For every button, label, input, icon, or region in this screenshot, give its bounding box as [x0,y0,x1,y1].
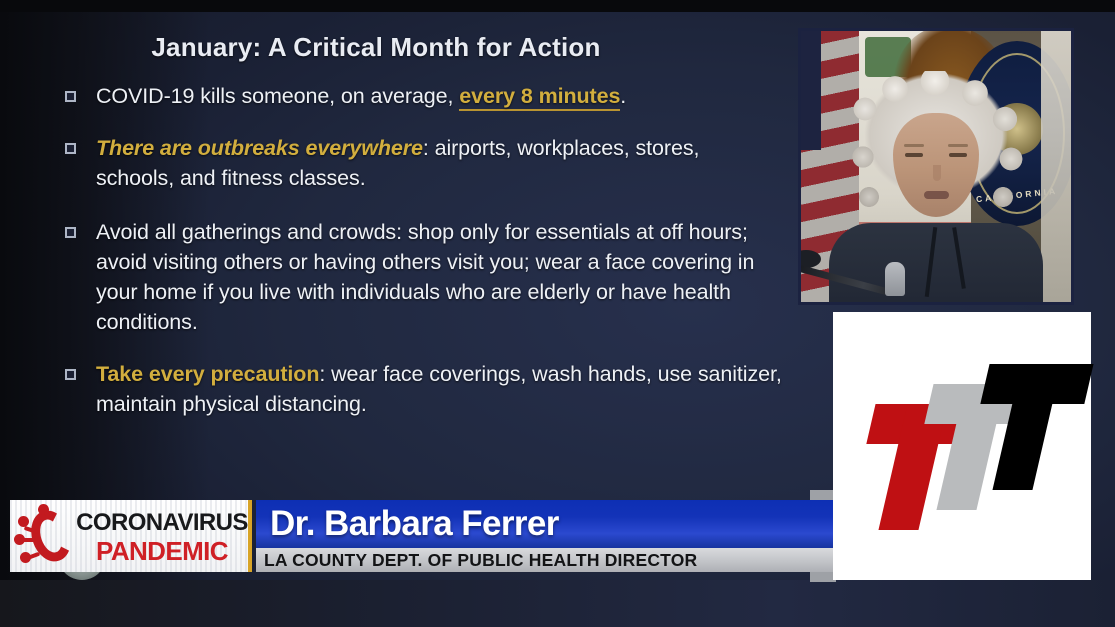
speaker-video-inset: CALIFORNIA [798,28,1074,305]
square-bullet-icon [62,217,96,247]
logo-line-coronavirus: CORONAVIRUS [76,511,248,535]
square-bullet-icon [62,359,96,389]
slide-bullet-text: Avoid all gatherings and crowds: shop on… [96,217,782,337]
top-letterbox-bar [0,0,1115,12]
broadcast-frame: January: A Critical Month for Action COV… [0,0,1115,627]
slide-bullet-precautions: Take every precaution: wear face coverin… [62,359,782,419]
speaker-figure [843,71,1029,302]
slide-bullet-avoid-gatherings: Avoid all gatherings and crowds: shop on… [62,217,782,337]
coronavirus-pandemic-logo: CORONAVIRUS PANDEMIC [10,500,252,572]
slide-bullet-outbreaks: There are outbreaks everywhere: airports… [62,133,782,193]
ttt-letter-black-icon [960,364,1093,490]
speaker-title: LA COUNTY DEPT. OF PUBLIC HEALTH DIRECTO… [256,550,697,571]
slide-bullet-text: There are outbreaks everywhere: airports… [96,133,782,193]
speaker-name: Dr. Barbara Ferrer [256,504,559,544]
slide-title: January: A Critical Month for Action [62,32,782,63]
bullet-segment-plain: COVID-19 kills someone, on average, [96,84,459,108]
slide-bullet-covid-deaths: COVID-19 kills someone, on average, ever… [62,81,782,111]
presentation-slide-content: January: A Critical Month for Action COV… [0,10,800,510]
logo-text-block: CORONAVIRUS PANDEMIC [76,511,248,564]
bullet-segment-highlight: There are outbreaks everywhere [96,136,423,160]
slide-bullet-text: COVID-19 kills someone, on average, ever… [96,81,782,111]
bullet-segment-highlight: Take every precaution [96,362,319,386]
bullet-segment-period: . [620,84,626,108]
lower-third-banner: CORONAVIRUS PANDEMIC Dr. Barbara Ferrer … [0,500,836,572]
microphone-icon [885,262,905,296]
speaker-title-bar: LA COUNTY DEPT. OF PUBLIC HEALTH DIRECTO… [256,548,836,572]
square-bullet-icon [62,81,96,111]
slide-bullet-text: Take every precaution: wear face coverin… [96,359,782,419]
logo-line-pandemic: PANDEMIC [76,538,248,564]
ttt-logo [833,312,1091,580]
right-flag-edge [1041,31,1071,302]
bottom-letterbox-bar [0,580,1115,627]
coronavirus-icon [16,504,78,568]
square-bullet-icon [62,133,96,163]
bullet-segment-highlight: every 8 minutes [459,84,620,111]
speaker-name-bar: Dr. Barbara Ferrer [256,500,836,548]
video-stage: CALIFORNIA [801,31,1071,302]
